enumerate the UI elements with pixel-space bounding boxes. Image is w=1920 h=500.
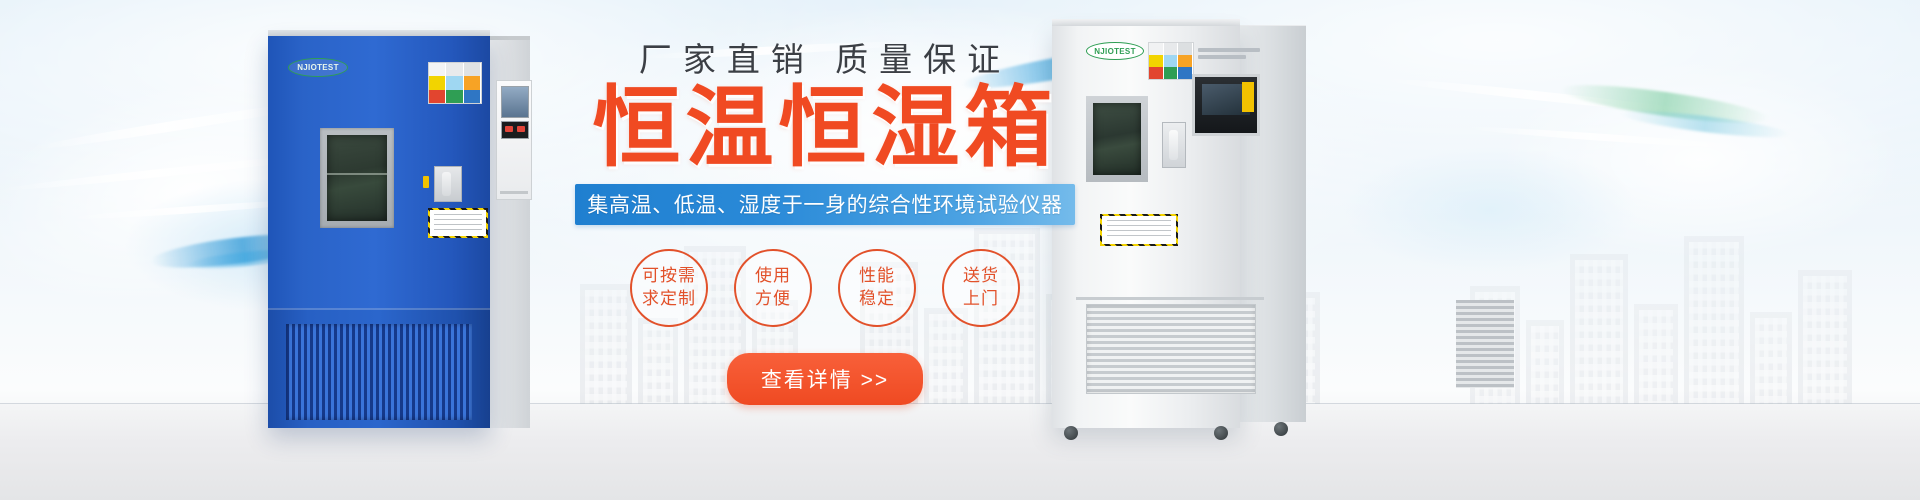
banner-tagline: 厂家直销 质量保证 — [575, 42, 1075, 78]
cloud-wisp — [1380, 75, 1709, 118]
chamber-base-left — [268, 308, 490, 428]
chamber-door-right: NJIOTEST — [1052, 26, 1240, 428]
yellow-marker-right — [1242, 82, 1254, 112]
panel-footer-text-left — [500, 191, 528, 194]
brand-logo-text-right: NJIOTEST — [1094, 47, 1136, 56]
model-nameplate-right — [1198, 48, 1260, 62]
feature-badge-easy-use[interactable]: 使用 方便 — [734, 249, 812, 327]
chamber-door-left: NJIOTEST — [268, 36, 490, 428]
caster-wheel — [1274, 422, 1288, 436]
warning-label-sticker-right — [1148, 42, 1194, 80]
banner-subtitle-text: 集高温、低温、湿度于一身的综合性环境试验仪器 — [587, 189, 1062, 219]
badge-line-1: 性能 — [859, 265, 895, 288]
green-accent-streak — [1559, 78, 1770, 131]
window-glass-right — [1093, 103, 1141, 175]
product-image-left: NJIOTEST — [268, 36, 530, 428]
caster-wheel — [1064, 426, 1078, 440]
brand-logo-right: NJIOTEST — [1086, 42, 1144, 60]
cloud-swirl — [1280, 120, 1700, 300]
badge-line-2: 上门 — [963, 288, 999, 311]
control-panel-left — [496, 80, 532, 200]
badge-line-2: 求定制 — [642, 288, 696, 311]
cloud-wisp — [1460, 124, 1750, 151]
view-details-button[interactable]: 查看详情 >> — [727, 353, 923, 405]
brand-logo-text-left: NJIOTEST — [297, 63, 339, 72]
controller-display-left — [501, 86, 529, 118]
badge-line-1: 使用 — [755, 265, 791, 288]
banner-copy-block: 厂家直销 质量保证 恒温恒湿箱 集高温、低温、湿度于一身的综合性环境试验仪器 可… — [575, 42, 1075, 405]
badge-line-2: 稳定 — [859, 288, 895, 311]
banner-title: 恒温恒湿箱 — [575, 82, 1075, 174]
caution-plate-left — [428, 208, 488, 238]
indicator-marker-left — [423, 176, 429, 188]
city-skyline-silhouette-right — [1460, 204, 1880, 404]
feature-badge-list: 可按需 求定制 使用 方便 性能 稳定 送货 上门 — [575, 249, 1075, 327]
ventilation-grille-right — [1086, 304, 1256, 394]
door-handle-right — [1162, 122, 1186, 168]
badge-line-2: 方便 — [755, 288, 791, 311]
digital-readout-left — [501, 121, 529, 139]
door-handle-left — [434, 166, 462, 202]
feature-badge-delivery[interactable]: 送货 上门 — [942, 249, 1020, 327]
chamber-viewing-window-left — [320, 128, 394, 228]
chamber-side-cap-left — [490, 36, 530, 40]
chamber-seam-right — [1076, 297, 1264, 300]
badge-line-1: 送货 — [963, 265, 999, 288]
side-ventilation-grille-right — [1456, 300, 1514, 388]
caster-wheel — [1214, 426, 1228, 440]
cta-container: 查看详情 >> — [575, 353, 1075, 405]
feature-badge-custom[interactable]: 可按需 求定制 — [630, 249, 708, 327]
promo-banner: NJIOTEST — [0, 0, 1920, 500]
chamber-viewing-window-right — [1086, 96, 1148, 182]
warning-label-sticker-left — [428, 62, 482, 104]
brand-logo-left: NJIOTEST — [288, 58, 348, 77]
blue-accent-streak — [1620, 106, 1791, 143]
feature-badge-stable[interactable]: 性能 稳定 — [838, 249, 916, 327]
cloud-swirl — [1420, 20, 1920, 300]
caution-plate-right — [1100, 214, 1178, 246]
badge-line-1: 可按需 — [642, 265, 696, 288]
banner-subtitle-bar: 集高温、低温、湿度于一身的综合性环境试验仪器 — [575, 184, 1075, 225]
window-glass-left — [327, 135, 387, 221]
ventilation-grille-left — [286, 324, 472, 420]
